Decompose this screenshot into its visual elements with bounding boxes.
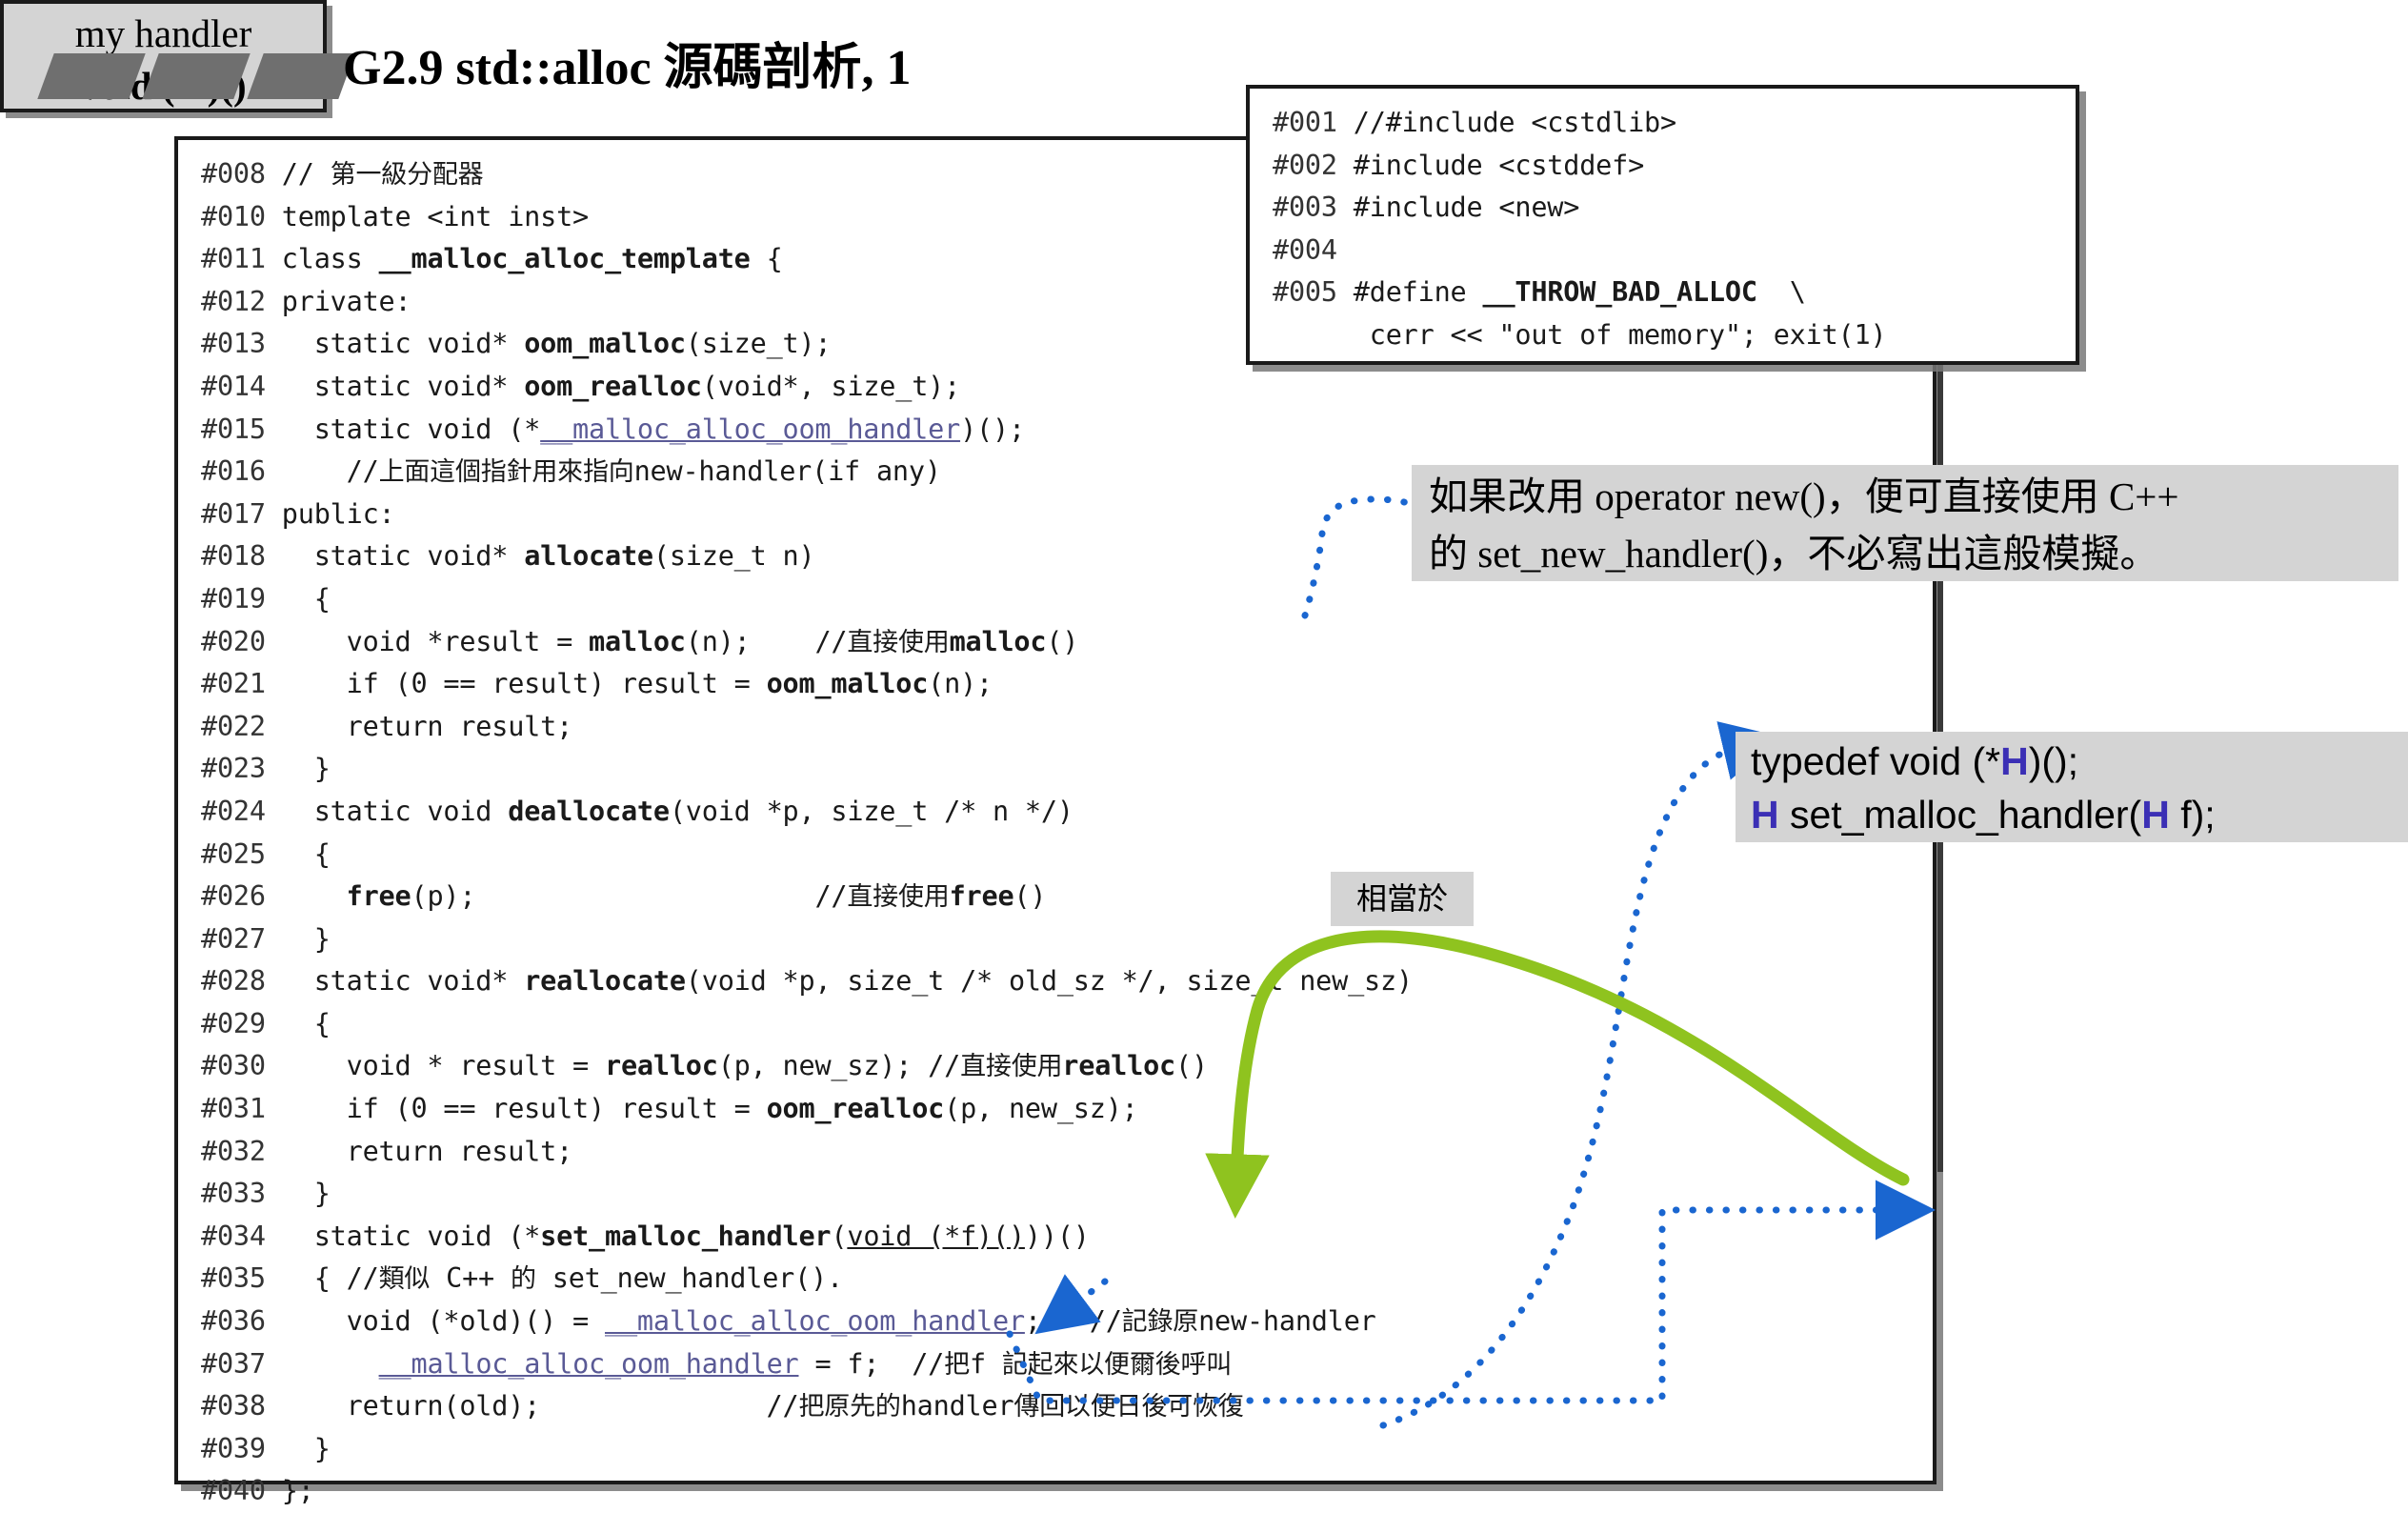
code-line: #014 static void* oom_realloc(void*, siz…	[201, 366, 1933, 409]
typedef-H-glyph-2: H	[1751, 793, 1779, 837]
typedef-H-glyph-1: H	[2000, 739, 2029, 783]
code-line: #027 }	[201, 918, 1933, 961]
my-handler-line1: my handler	[4, 8, 323, 60]
typedef-line2-mid: set_malloc_handler(	[1779, 793, 2142, 837]
code-line: #039 }	[201, 1428, 1933, 1471]
title-bullet-2	[142, 53, 250, 99]
title-bullet-1	[37, 53, 145, 99]
header-code-listing: #001 //#include <cstdlib>#002 #include <…	[1246, 85, 2079, 365]
note-operator-new-line2: 的 set_new_handler()，不必寫出這般模擬。	[1429, 532, 2158, 575]
code-line: #019 {	[201, 578, 1933, 621]
code-line: #004	[1273, 230, 2076, 272]
typedef-line1-pre: typedef void (*	[1751, 739, 2000, 783]
code-line: #029 {	[201, 1003, 1933, 1046]
code-line: #034 static void (*set_malloc_handler(vo…	[201, 1216, 1933, 1259]
code-line: #023 }	[201, 748, 1933, 791]
note-operator-new: 如果改用 operator new()，便可直接使用 C++ 的 set_new…	[1412, 465, 2398, 581]
code-line: #015 static void (*__malloc_alloc_oom_ha…	[201, 409, 1933, 452]
code-line: #003 #include <new>	[1273, 187, 2076, 230]
typedef-line1-post: )();	[2029, 739, 2078, 783]
code-line: #028 static void* reallocate(void *p, si…	[201, 960, 1933, 1003]
code-line: #001 //#include <cstdlib>	[1273, 102, 2076, 145]
note-operator-new-line1: 如果改用 operator new()，便可直接使用 C++	[1429, 474, 2179, 518]
code-line: #030 void * result = realloc(p, new_sz);…	[201, 1045, 1933, 1088]
code-line: #020 void *result = malloc(n); //直接使用mal…	[201, 621, 1933, 664]
code-line: cerr << "out of memory"; exit(1)	[1273, 314, 2076, 357]
code-line: #031 if (0 == result) result = oom_reall…	[201, 1088, 1933, 1131]
code-line: #021 if (0 == result) result = oom_mallo…	[201, 663, 1933, 706]
typedef-H-glyph-3: H	[2141, 793, 2170, 837]
code-line: #005 #define __THROW_BAD_ALLOC \	[1273, 272, 2076, 314]
title-bullet-3	[247, 53, 354, 99]
code-line: #026 free(p); //直接使用free()	[201, 876, 1933, 918]
code-line: #035 { //類似 C++ 的 set_new_handler().	[201, 1258, 1933, 1301]
code-line: #038 return(old); //把原先的handler傳回以便日後可恢復	[201, 1385, 1933, 1428]
note-typedef-handler: typedef void (*H)(); H set_malloc_handle…	[1736, 732, 2408, 842]
note-equivalent-to: 相當於	[1331, 872, 1474, 926]
code-line: #033 }	[201, 1173, 1933, 1216]
typedef-line2-post: f);	[2170, 793, 2216, 837]
code-line: #025 {	[201, 834, 1933, 877]
code-line: #040 };	[201, 1470, 1933, 1513]
code-line: #024 static void deallocate(void *p, siz…	[201, 791, 1933, 834]
code-line: #032 return result;	[201, 1131, 1933, 1174]
title-bullet-marks	[36, 53, 312, 99]
code-line: #002 #include <cstddef>	[1273, 145, 2076, 188]
page-title: G2.9 std::alloc 源碼剖析, 1	[343, 27, 912, 98]
code-line: #036 void (*old)() = __malloc_alloc_oom_…	[201, 1301, 1933, 1343]
code-line: #022 return result;	[201, 706, 1933, 749]
code-line: #037 __malloc_alloc_oom_handler = f; //把…	[201, 1343, 1933, 1386]
